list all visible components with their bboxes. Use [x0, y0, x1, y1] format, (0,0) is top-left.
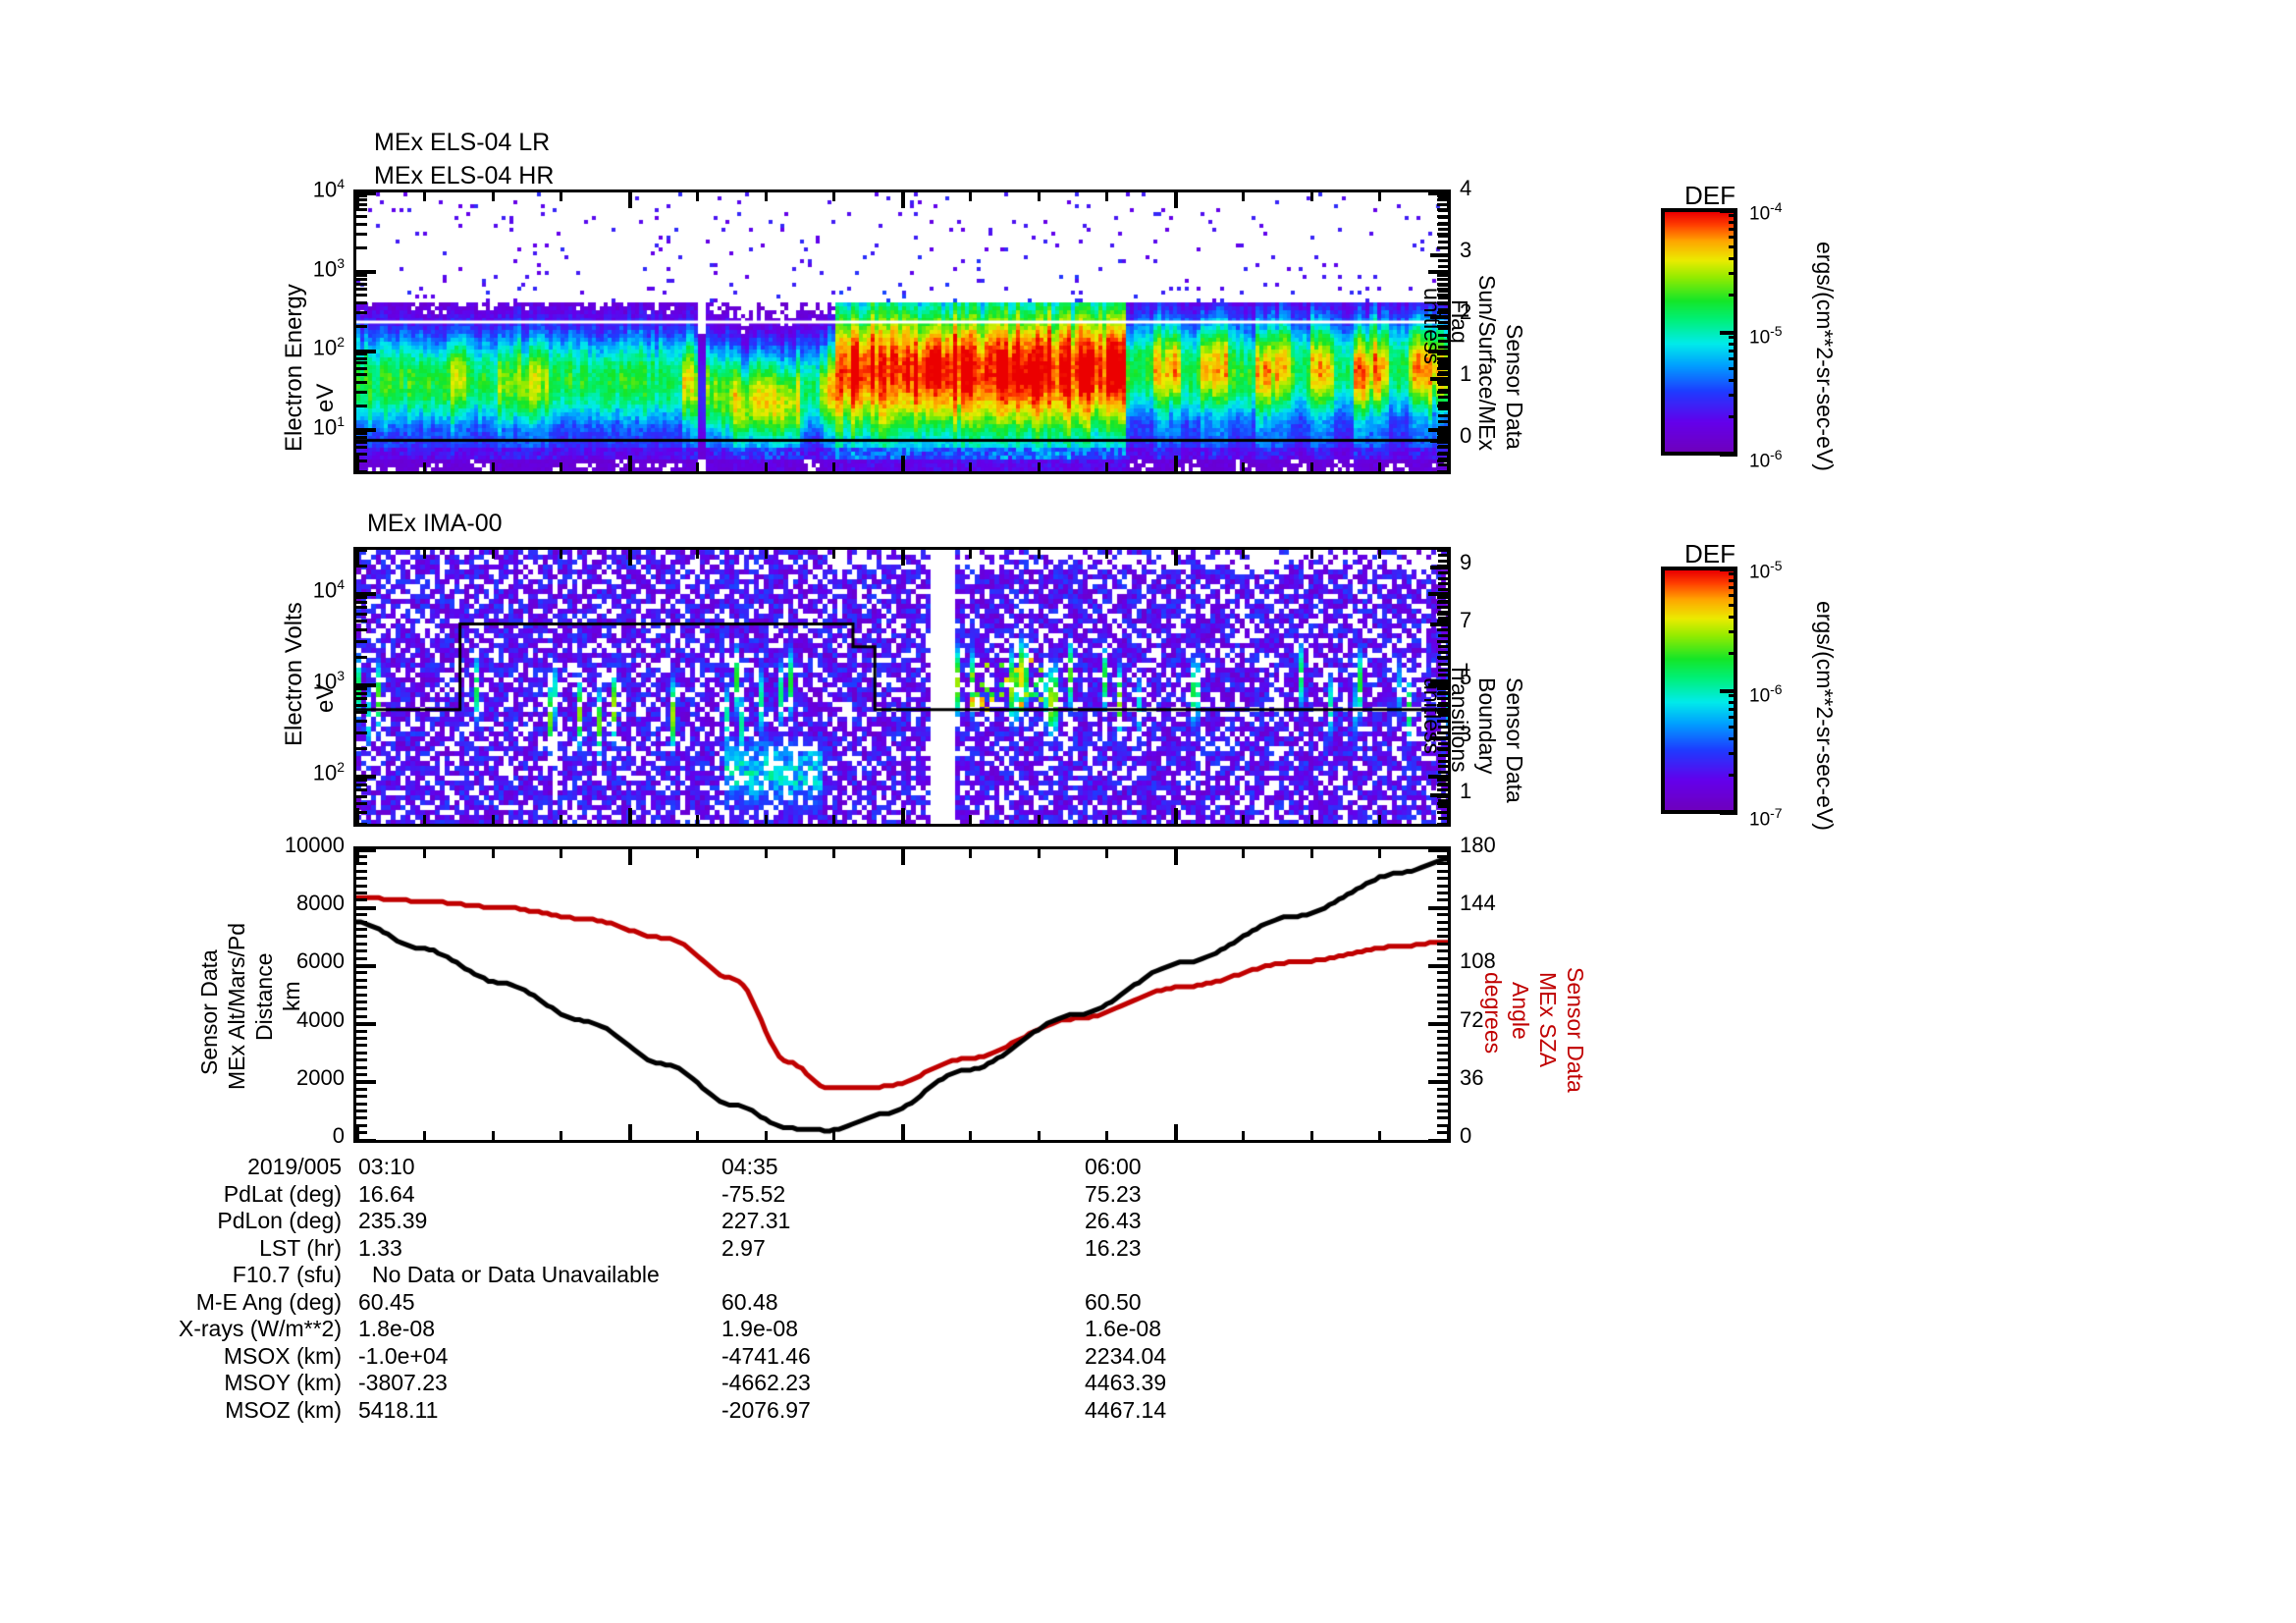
axis-tick — [628, 456, 632, 471]
axis-tick — [1437, 898, 1448, 901]
axis-tick — [492, 462, 495, 471]
axis-tick — [356, 877, 367, 880]
axis-tick — [1437, 957, 1448, 960]
axis-tick — [356, 1080, 376, 1084]
axis-tick — [356, 1044, 367, 1047]
axis-tick — [356, 373, 367, 376]
colorbar-tick — [1729, 336, 1737, 339]
panel3-line-plot — [356, 849, 1448, 1140]
axis-tick — [356, 301, 367, 304]
colorbar-tick — [1720, 689, 1737, 693]
axis-tick — [1038, 192, 1041, 201]
axis-tick — [1437, 921, 1448, 924]
axis-tick — [1242, 815, 1245, 824]
axis-tick — [1438, 222, 1448, 225]
colorbar-tick — [1729, 752, 1737, 755]
colorbar-tick — [1720, 331, 1737, 335]
axis-tick — [696, 192, 699, 201]
axis-tick — [356, 692, 367, 695]
axis-tick — [356, 1073, 367, 1076]
colorbar-tick — [1729, 594, 1737, 597]
axis-tick — [356, 606, 367, 609]
axis-tick — [356, 620, 367, 622]
axis-tick — [356, 994, 367, 997]
axis-tick — [1438, 799, 1448, 802]
axis-tick-label: 4000 — [296, 1007, 345, 1033]
colorbar-tick — [1729, 272, 1737, 275]
table-row-value: 235.39 — [358, 1208, 427, 1234]
axis-tick — [765, 550, 768, 559]
axis-tick — [492, 815, 495, 824]
axis-tick — [1437, 1066, 1448, 1069]
table-row-label: PdLat (deg) — [224, 1181, 342, 1208]
axis-tick — [1430, 793, 1448, 797]
axis-tick-label: 0 — [333, 1123, 345, 1149]
axis-tick — [1437, 913, 1448, 916]
table-row-value: -1.0e+04 — [358, 1343, 448, 1370]
axis-tick — [356, 191, 376, 195]
table-row-value: -75.52 — [721, 1181, 785, 1208]
colorbar2-top-label: 10-5 — [1749, 558, 1783, 583]
axis-tick — [1174, 550, 1178, 566]
colorbar1-mid-label: 10-5 — [1749, 323, 1783, 349]
colorbar-tick — [1720, 209, 1737, 213]
axis-tick — [1174, 1124, 1178, 1140]
axis-tick — [628, 849, 632, 865]
colorbar2-title: DEF — [1684, 541, 1735, 568]
axis-tick — [492, 550, 495, 559]
axis-tick — [356, 278, 367, 281]
axis-tick — [492, 849, 495, 858]
axis-tick — [1438, 582, 1448, 585]
axis-tick-label: 104 — [313, 176, 345, 202]
axis-tick — [355, 1124, 359, 1140]
axis-tick — [355, 849, 359, 865]
axis-tick — [1447, 849, 1451, 865]
axis-tick — [356, 870, 367, 873]
axis-tick — [1438, 651, 1448, 654]
axis-tick — [765, 1131, 768, 1140]
table-row-value: 2234.04 — [1085, 1343, 1166, 1370]
axis-tick — [1437, 877, 1448, 880]
table-row-value: 04:35 — [721, 1154, 778, 1180]
axis-tick — [356, 441, 367, 444]
axis-tick — [901, 550, 905, 566]
axis-tick — [832, 849, 835, 858]
axis-tick — [560, 815, 562, 824]
panel2-plot-frame — [353, 547, 1451, 827]
colorbar-tick — [1729, 604, 1737, 607]
table-row-value: 1.8e-08 — [358, 1316, 435, 1342]
axis-tick — [1430, 377, 1448, 381]
axis-tick — [969, 192, 972, 201]
colorbar-tick — [1729, 716, 1737, 719]
axis-tick — [1438, 402, 1448, 405]
colorbar2-mid-label: 10-6 — [1749, 681, 1783, 707]
axis-tick-label: 1 — [1460, 361, 1471, 387]
colorbar-tick — [1729, 774, 1737, 777]
axis-tick — [1438, 606, 1448, 609]
axis-tick-label: 0 — [1460, 423, 1471, 449]
axis-tick — [1438, 420, 1448, 423]
axis-tick — [1438, 588, 1448, 591]
axis-tick — [1105, 849, 1108, 858]
axis-tick — [1437, 1037, 1448, 1040]
axis-tick — [765, 815, 768, 824]
axis-tick — [1310, 192, 1313, 201]
axis-tick — [1438, 611, 1448, 614]
figure-canvas: MEx ELS-04 LR MEx ELS-04 HR Electron Ene… — [0, 0, 2296, 1623]
axis-tick — [356, 436, 367, 439]
axis-tick — [1447, 550, 1451, 566]
axis-tick — [356, 935, 367, 938]
axis-tick — [1038, 1131, 1041, 1140]
axis-tick — [1438, 265, 1448, 268]
axis-tick — [492, 192, 495, 201]
table-row-value: 2.97 — [721, 1235, 766, 1262]
table-row-label: MSOX (km) — [224, 1343, 342, 1370]
colorbar-tick — [1729, 394, 1737, 397]
axis-tick — [1437, 1073, 1448, 1076]
axis-tick-label: 104 — [313, 576, 345, 603]
axis-tick — [356, 446, 367, 449]
axis-tick — [1428, 906, 1448, 910]
axis-tick — [356, 704, 367, 707]
axis-tick — [356, 1139, 376, 1143]
axis-tick — [356, 731, 367, 734]
axis-tick — [356, 788, 367, 791]
axis-tick — [1437, 979, 1448, 982]
axis-tick — [356, 1015, 367, 1018]
axis-tick — [1174, 849, 1178, 865]
axis-tick — [356, 683, 376, 687]
axis-tick-label: 2000 — [296, 1065, 345, 1091]
axis-tick-label: 1 — [1460, 779, 1471, 804]
axis-tick — [356, 949, 367, 952]
axis-tick — [356, 246, 367, 249]
colorbar-tick — [1729, 294, 1737, 297]
axis-tick — [1447, 808, 1451, 824]
axis-tick-label: 36 — [1460, 1065, 1483, 1091]
colorbar-tick — [1729, 357, 1737, 360]
axis-tick — [832, 462, 835, 471]
table-row-value: 4463.39 — [1085, 1370, 1166, 1396]
axis-tick — [1437, 971, 1448, 974]
axis-tick — [356, 892, 367, 894]
axis-tick — [356, 943, 367, 946]
axis-tick — [356, 1066, 367, 1069]
axis-tick — [356, 350, 376, 353]
axis-tick — [1437, 885, 1448, 888]
axis-tick — [1437, 1044, 1448, 1047]
axis-tick — [1438, 594, 1448, 597]
axis-tick — [356, 613, 367, 616]
axis-tick — [356, 1052, 367, 1055]
colorbar-tick — [1729, 726, 1737, 729]
axis-tick — [356, 1103, 367, 1106]
axis-tick — [1438, 657, 1448, 660]
axis-tick — [356, 391, 367, 394]
axis-tick — [1310, 849, 1313, 858]
table-row-value: 1.33 — [358, 1235, 402, 1262]
colorbar-tick — [1729, 708, 1737, 711]
axis-tick — [356, 596, 367, 599]
axis-tick — [1378, 550, 1381, 559]
panel2-title: MEx IMA-00 — [367, 511, 503, 536]
axis-tick-label: 144 — [1460, 891, 1496, 916]
axis-tick — [1378, 815, 1381, 824]
axis-tick-label: 9 — [1460, 550, 1471, 575]
axis-tick — [1174, 808, 1178, 824]
axis-tick — [901, 849, 905, 865]
axis-tick — [1378, 462, 1381, 471]
axis-tick — [356, 986, 367, 989]
axis-tick-label: 0 — [1460, 1123, 1471, 1149]
axis-tick — [423, 550, 426, 559]
axis-tick — [423, 849, 426, 858]
axis-tick — [628, 1124, 632, 1140]
axis-tick — [356, 1109, 367, 1112]
axis-tick — [1310, 550, 1313, 559]
axis-tick — [356, 640, 367, 643]
axis-tick — [1430, 566, 1448, 569]
axis-tick — [1438, 634, 1448, 637]
axis-tick — [1310, 1131, 1313, 1140]
colorbar-tick — [1729, 343, 1737, 346]
colorbar-tick — [1729, 701, 1737, 704]
table-row-value: -3807.23 — [358, 1370, 448, 1396]
axis-tick — [1430, 191, 1448, 195]
axis-tick — [356, 405, 367, 407]
colorbar-tick — [1729, 579, 1737, 582]
axis-tick — [356, 795, 367, 798]
axis-tick — [1438, 571, 1448, 574]
axis-tick — [1438, 259, 1448, 262]
axis-tick-label: 101 — [313, 413, 345, 440]
table-row-value: 16.64 — [358, 1181, 415, 1208]
axis-tick — [356, 885, 367, 888]
axis-tick — [423, 815, 426, 824]
table-row-value: No Data or Data Unavailable — [372, 1262, 660, 1288]
axis-tick — [355, 456, 359, 471]
panel3-plot-frame — [353, 846, 1451, 1143]
axis-tick — [1438, 777, 1448, 780]
axis-tick — [356, 361, 367, 364]
table-row-value: 60.48 — [721, 1289, 778, 1316]
colorbar-tick — [1729, 221, 1737, 224]
table-row-value: 60.50 — [1085, 1289, 1142, 1316]
axis-tick — [1437, 949, 1448, 952]
colorbar-tick — [1729, 572, 1737, 575]
table-row-value: 4467.14 — [1085, 1397, 1166, 1424]
axis-tick — [356, 215, 367, 218]
axis-tick — [1310, 462, 1313, 471]
axis-tick — [1437, 928, 1448, 931]
axis-tick — [356, 906, 376, 910]
axis-tick — [1438, 396, 1448, 399]
axis-tick — [1242, 1131, 1245, 1140]
axis-tick — [1174, 456, 1178, 471]
colorbar-tick — [1720, 453, 1737, 457]
colorbar-tick — [1729, 350, 1737, 352]
axis-tick — [1437, 994, 1448, 997]
axis-tick — [1378, 192, 1381, 201]
axis-tick — [1438, 389, 1448, 392]
axis-tick — [1428, 1022, 1448, 1026]
axis-tick-label: 4 — [1460, 176, 1471, 201]
axis-tick — [1038, 550, 1041, 559]
axis-tick — [628, 808, 632, 824]
axis-tick — [1105, 550, 1108, 559]
axis-tick — [356, 208, 367, 211]
axis-tick — [1428, 1139, 1448, 1143]
axis-tick — [356, 779, 367, 782]
panel1-plot-frame — [353, 189, 1451, 474]
axis-tick — [969, 550, 972, 559]
panel2-spectrogram — [356, 550, 1448, 824]
axis-tick-label: 8000 — [296, 891, 345, 916]
axis-tick — [1438, 228, 1448, 231]
table-row-label: MSOZ (km) — [225, 1397, 342, 1424]
colorbar-tick — [1729, 367, 1737, 370]
colorbar1-top-label: 10-4 — [1749, 199, 1783, 225]
axis-tick — [356, 971, 367, 974]
axis-tick — [1438, 407, 1448, 410]
axis-tick — [969, 815, 972, 824]
axis-tick — [1438, 241, 1448, 243]
axis-tick — [356, 848, 376, 852]
colorbar-tick — [1729, 245, 1737, 248]
table-row-label: LST (hr) — [259, 1235, 342, 1262]
axis-tick — [1242, 849, 1245, 858]
axis-tick — [356, 1058, 367, 1061]
axis-tick — [560, 1131, 562, 1140]
axis-tick — [560, 462, 562, 471]
table-row-label: PdLon (deg) — [217, 1208, 342, 1234]
axis-tick — [423, 1131, 426, 1140]
axis-tick-label: 10000 — [285, 833, 345, 858]
axis-tick — [492, 1131, 495, 1140]
axis-tick — [901, 1124, 905, 1140]
axis-tick — [832, 1131, 835, 1140]
axis-tick — [1378, 1131, 1381, 1140]
axis-tick — [423, 462, 426, 471]
axis-tick — [832, 550, 835, 559]
axis-tick — [1438, 364, 1448, 367]
colorbar-tick — [1729, 652, 1737, 655]
axis-tick — [356, 311, 367, 314]
axis-tick — [356, 357, 367, 360]
axis-tick — [1437, 1109, 1448, 1112]
axis-tick — [356, 270, 376, 274]
axis-tick — [1437, 1001, 1448, 1003]
axis-tick — [1438, 235, 1448, 238]
axis-tick — [1378, 849, 1381, 858]
table-row-value: 16.23 — [1085, 1235, 1142, 1262]
axis-tick — [356, 697, 367, 700]
axis-tick — [1437, 935, 1448, 938]
table-row-value: 1.9e-08 — [721, 1316, 798, 1342]
axis-tick — [1438, 246, 1448, 249]
axis-tick — [1438, 272, 1448, 275]
table-row-value: 1.6e-08 — [1085, 1316, 1161, 1342]
axis-tick — [1437, 1058, 1448, 1061]
axis-tick — [765, 192, 768, 201]
axis-tick-label: 3 — [1460, 238, 1471, 263]
axis-tick — [628, 550, 632, 566]
axis-tick — [356, 775, 376, 779]
table-row-label: F10.7 (sfu) — [233, 1262, 342, 1288]
axis-tick — [356, 957, 367, 960]
axis-tick — [1437, 1116, 1448, 1119]
axis-tick — [356, 784, 367, 786]
table-row-value: 03:10 — [358, 1154, 415, 1180]
axis-tick — [1437, 1103, 1448, 1106]
axis-tick-label: 108 — [1460, 948, 1496, 974]
axis-tick — [1438, 577, 1448, 580]
axis-tick — [1438, 640, 1448, 643]
axis-tick — [901, 456, 905, 471]
axis-tick — [1105, 1131, 1108, 1140]
axis-tick — [356, 656, 367, 659]
colorbar2-bottom-label: 10-7 — [1749, 805, 1783, 831]
colorbar-tick — [1720, 568, 1737, 571]
axis-tick — [1430, 622, 1448, 626]
axis-tick — [628, 192, 632, 208]
axis-tick — [356, 325, 367, 328]
axis-tick — [356, 898, 367, 901]
axis-tick — [356, 1116, 367, 1119]
axis-tick — [765, 849, 768, 858]
axis-tick — [1438, 371, 1448, 374]
axis-tick — [1428, 848, 1448, 852]
axis-tick-label: 102 — [313, 334, 345, 360]
axis-tick — [765, 462, 768, 471]
axis-tick — [1437, 1015, 1448, 1018]
axis-tick — [356, 428, 376, 432]
axis-tick — [356, 381, 367, 384]
table-row-value: -4662.23 — [721, 1370, 811, 1396]
axis-tick — [1430, 253, 1448, 257]
axis-tick — [1438, 414, 1448, 417]
axis-tick — [355, 808, 359, 824]
axis-tick — [1437, 986, 1448, 989]
axis-tick — [1174, 192, 1178, 208]
table-row-value: -2076.97 — [721, 1397, 811, 1424]
axis-tick — [356, 432, 367, 435]
axis-tick — [1447, 192, 1451, 208]
axis-tick — [1438, 426, 1448, 429]
colorbar-tick — [1729, 236, 1737, 239]
colorbar-tick — [1729, 630, 1737, 633]
axis-tick — [560, 849, 562, 858]
axis-tick — [696, 550, 699, 559]
colorbar-tick — [1729, 228, 1737, 231]
table-row-label: X-rays (W/m**2) — [179, 1316, 342, 1342]
colorbar-tick — [1729, 586, 1737, 589]
axis-tick — [356, 274, 367, 277]
axis-tick — [1437, 1088, 1448, 1091]
axis-tick — [356, 979, 367, 982]
table-row-label: MSOY (km) — [224, 1370, 342, 1396]
axis-tick — [356, 921, 367, 924]
axis-tick — [356, 1007, 367, 1010]
axis-tick — [1437, 1030, 1448, 1033]
axis-tick — [1438, 645, 1448, 648]
axis-tick — [356, 1088, 367, 1091]
axis-tick — [1038, 462, 1041, 471]
axis-tick — [1038, 815, 1041, 824]
